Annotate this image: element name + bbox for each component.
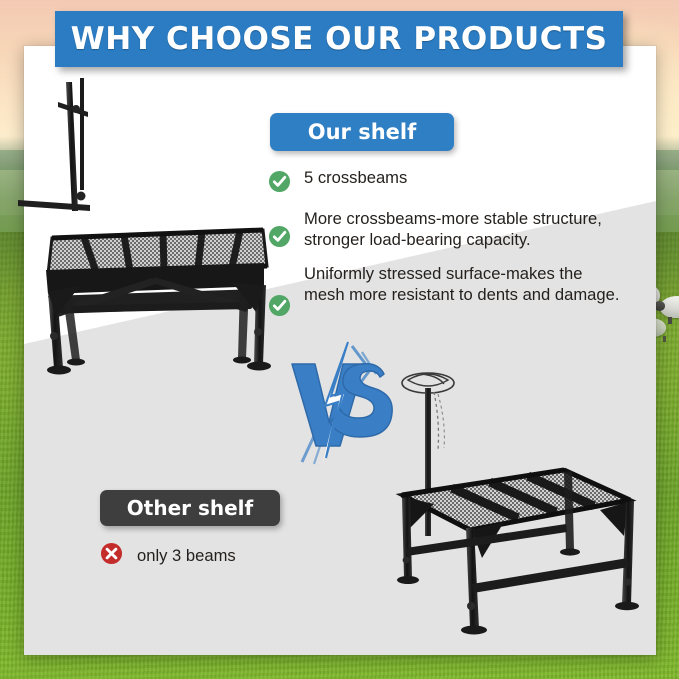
list-item: 5 crossbeams (268, 168, 620, 198)
list-item-text: only 3 beams (137, 546, 236, 566)
our-shelf-badge-label: Our shelf (308, 120, 417, 144)
other-shelf-product-image (378, 360, 658, 645)
check-circle-icon (268, 264, 292, 322)
our-shelf-badge: Our shelf (270, 113, 454, 151)
our-shelf-feature-list: 5 crossbeams More crossbeams-more stable… (268, 168, 620, 333)
list-item-text: More crossbeams-more stable structure, s… (304, 209, 620, 250)
list-item: More crossbeams-more stable structure, s… (268, 209, 620, 253)
page-title-banner: WHY CHOOSE OUR PRODUCTS (55, 11, 623, 67)
list-item: Uniformly stressed surface-makes the mes… (268, 264, 620, 322)
check-circle-icon (268, 209, 292, 253)
page-title: WHY CHOOSE OUR PRODUCTS (71, 21, 608, 57)
check-circle-icon (268, 168, 292, 198)
list-item-text: 5 crossbeams (304, 168, 407, 189)
versus-mark (288, 340, 398, 465)
list-item-text: Uniformly stressed surface-makes the mes… (304, 264, 620, 305)
other-shelf-badge: Other shelf (100, 490, 280, 526)
our-shelf-product-image (18, 78, 288, 388)
x-circle-icon (100, 542, 123, 570)
other-shelf-feature-list: only 3 beams (100, 542, 236, 570)
other-shelf-badge-label: Other shelf (127, 496, 253, 520)
